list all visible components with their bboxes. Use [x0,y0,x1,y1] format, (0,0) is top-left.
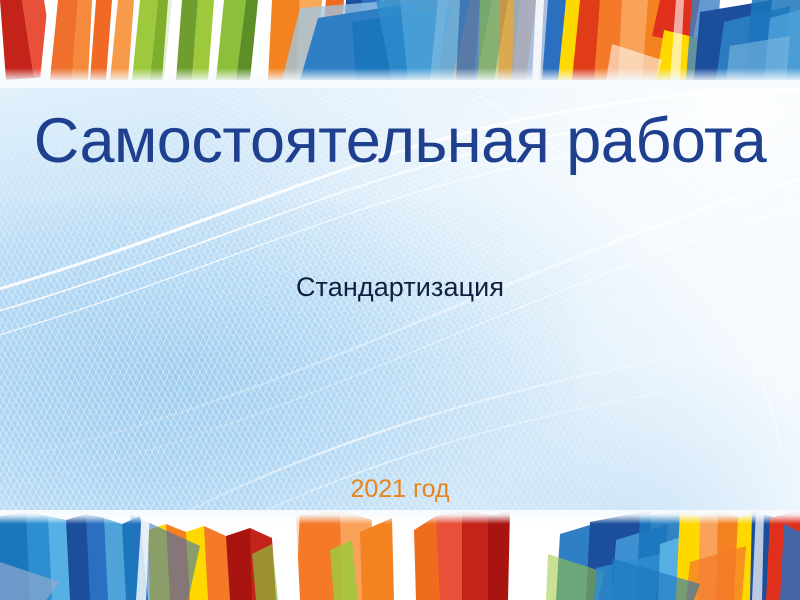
top-band-graphic [0,0,800,88]
slide-year: 2021 год [0,475,800,504]
slide-subtitle: Стандартизация [0,272,800,303]
bottom-band-graphic [0,510,800,600]
presentation-slide: Самостоятельная работа Стандартизация 20… [0,0,800,600]
bottom-decorative-band [0,510,800,600]
top-decorative-band [0,0,800,88]
slide-title: Самостоятельная работа [0,108,800,174]
